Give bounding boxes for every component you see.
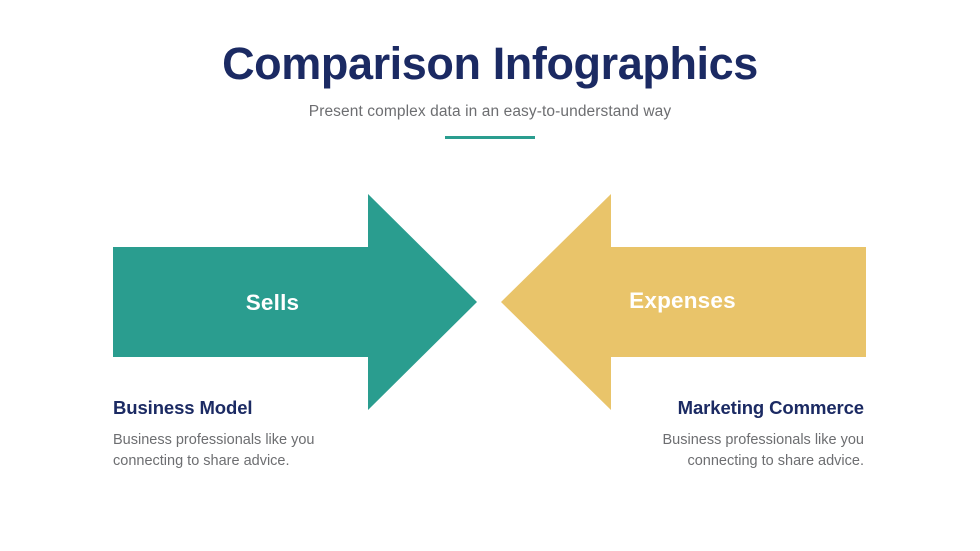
left-caption-body-line-1: Business professionals like you [113,430,413,451]
right-caption-body: Business professionals like you connecti… [564,430,864,472]
left-caption-heading: Business Model [113,395,413,421]
title-divider [445,136,535,139]
right-arrow-shape[interactable] [0,186,980,418]
sells-arrow-label: Sells [160,290,385,316]
left-caption-body-line-2: connecting to share advice. [113,451,413,472]
slide-header: Comparison Infographics Present complex … [0,36,980,139]
right-caption-body-line-2: connecting to share advice. [564,451,864,472]
title-divider-wrapper [0,135,980,139]
left-caption-block: Business Model Business professionals li… [113,395,413,472]
page-subtitle: Present complex data in an easy-to-under… [0,101,980,123]
page-title: Comparison Infographics [0,36,980,92]
right-caption-body-line-1: Business professionals like you [564,430,864,451]
right-caption-block: Marketing Commerce Business professional… [564,395,864,472]
comparison-arrows: Sells Expenses [0,186,980,418]
expenses-arrow-label: Expenses [570,288,795,314]
left-caption-body: Business professionals like you connecti… [113,430,413,472]
infographic-slide: Comparison Infographics Present complex … [0,0,980,551]
right-caption-heading: Marketing Commerce [564,395,864,421]
